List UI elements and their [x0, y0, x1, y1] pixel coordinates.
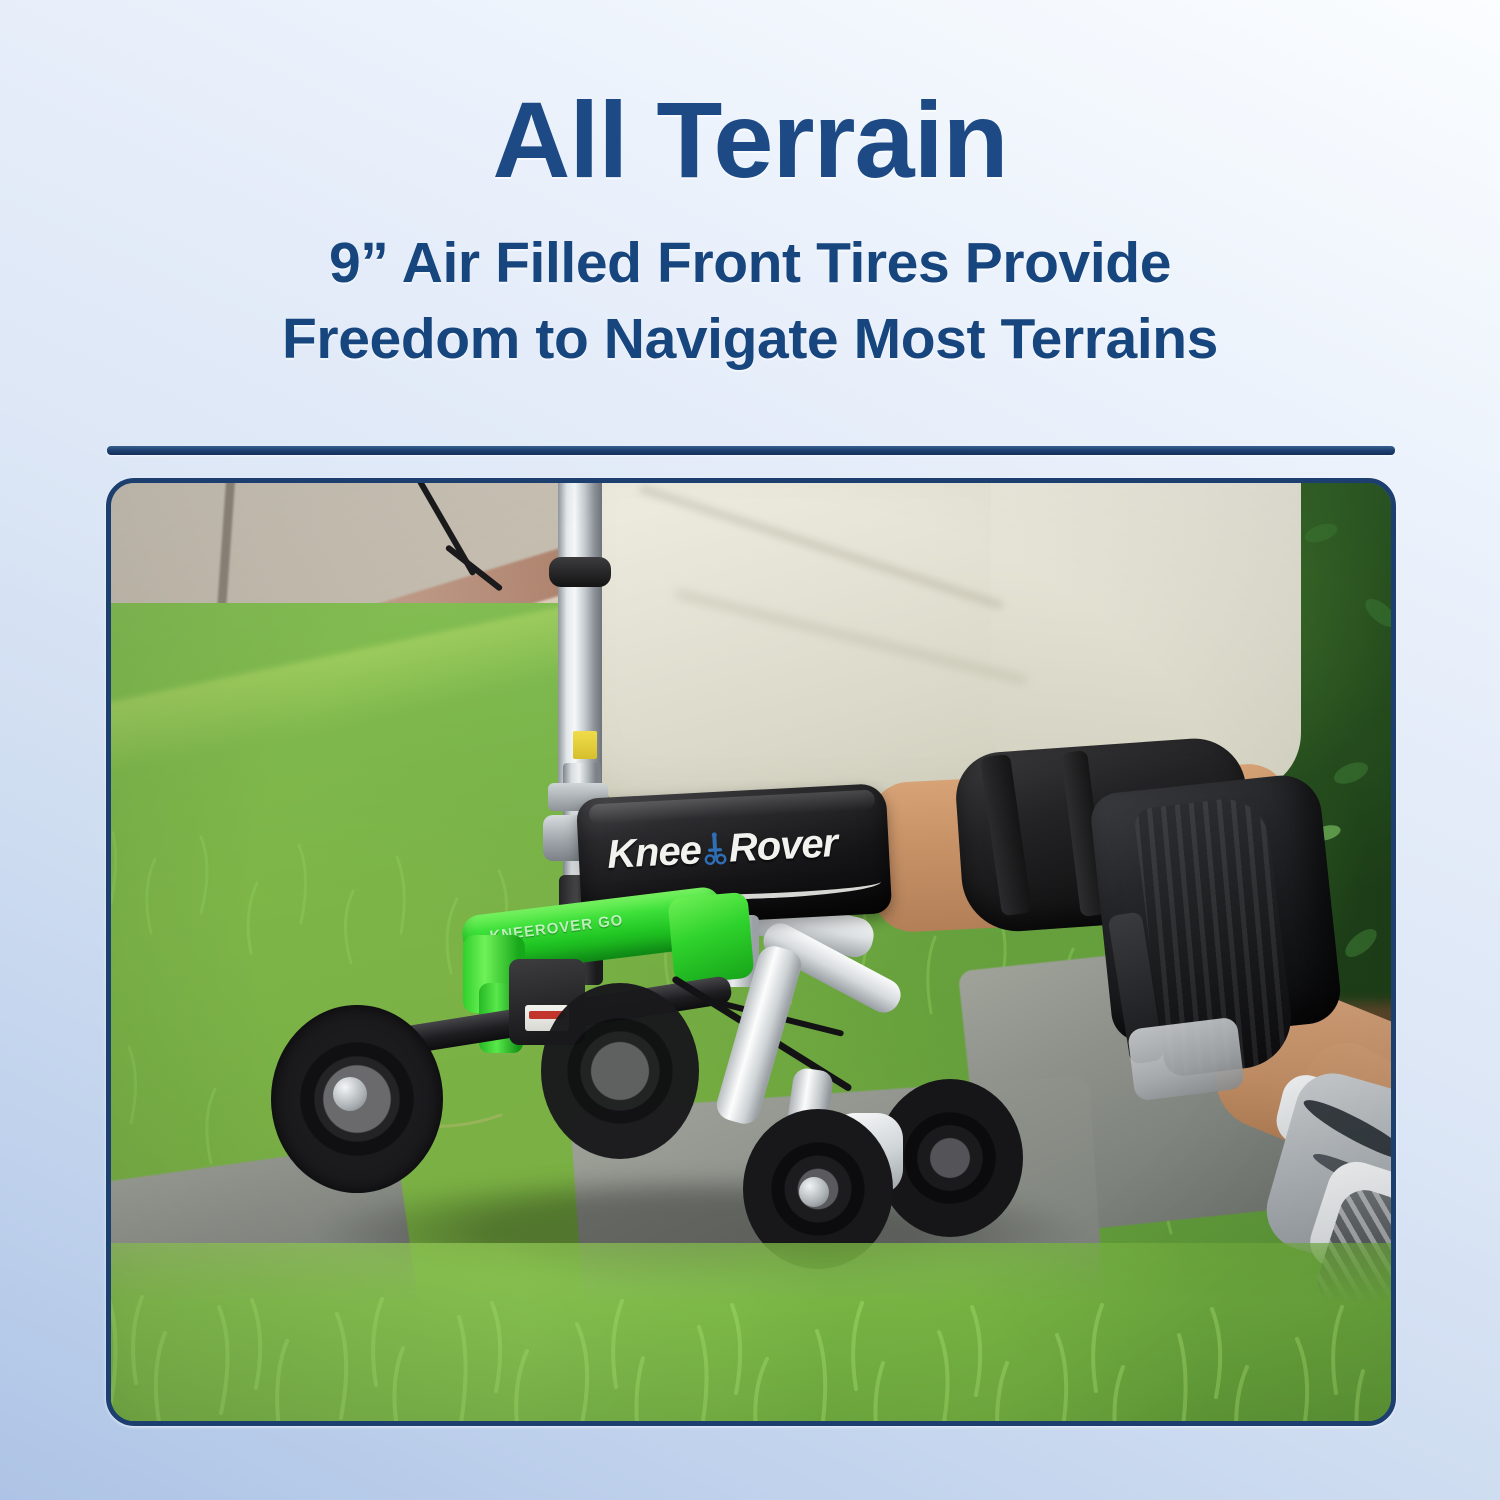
walking-boot-heel [1127, 1017, 1245, 1102]
subtitle: 9” Air Filled Front Tires Provide Freedo… [0, 194, 1500, 378]
green-frame-knuckle [667, 892, 754, 985]
headline-block: All Terrain 9” Air Filled Front Tires Pr… [0, 0, 1500, 378]
marketing-card: All Terrain 9” Air Filled Front Tires Pr… [0, 0, 1500, 1500]
cable-wrap [549, 557, 611, 587]
logo-word-knee: Knee [606, 830, 702, 875]
air-filled-front-tire [541, 983, 699, 1159]
product-photo-frame: Knee Rover [106, 478, 1396, 1426]
product-photo: Knee Rover [111, 483, 1391, 1421]
foreground-grass-blades [111, 1183, 1391, 1421]
subtitle-line-1: 9” Air Filled Front Tires Provide [0, 226, 1500, 302]
section-divider [107, 446, 1395, 455]
subtitle-line-2: Freedom to Navigate Most Terrains [0, 302, 1500, 378]
page-title: All Terrain [0, 0, 1500, 194]
front-wheel-hub [333, 1077, 367, 1111]
warning-sticker [573, 731, 597, 759]
scooter-icon [703, 832, 727, 867]
logo-word-rover: Rover [728, 823, 838, 869]
